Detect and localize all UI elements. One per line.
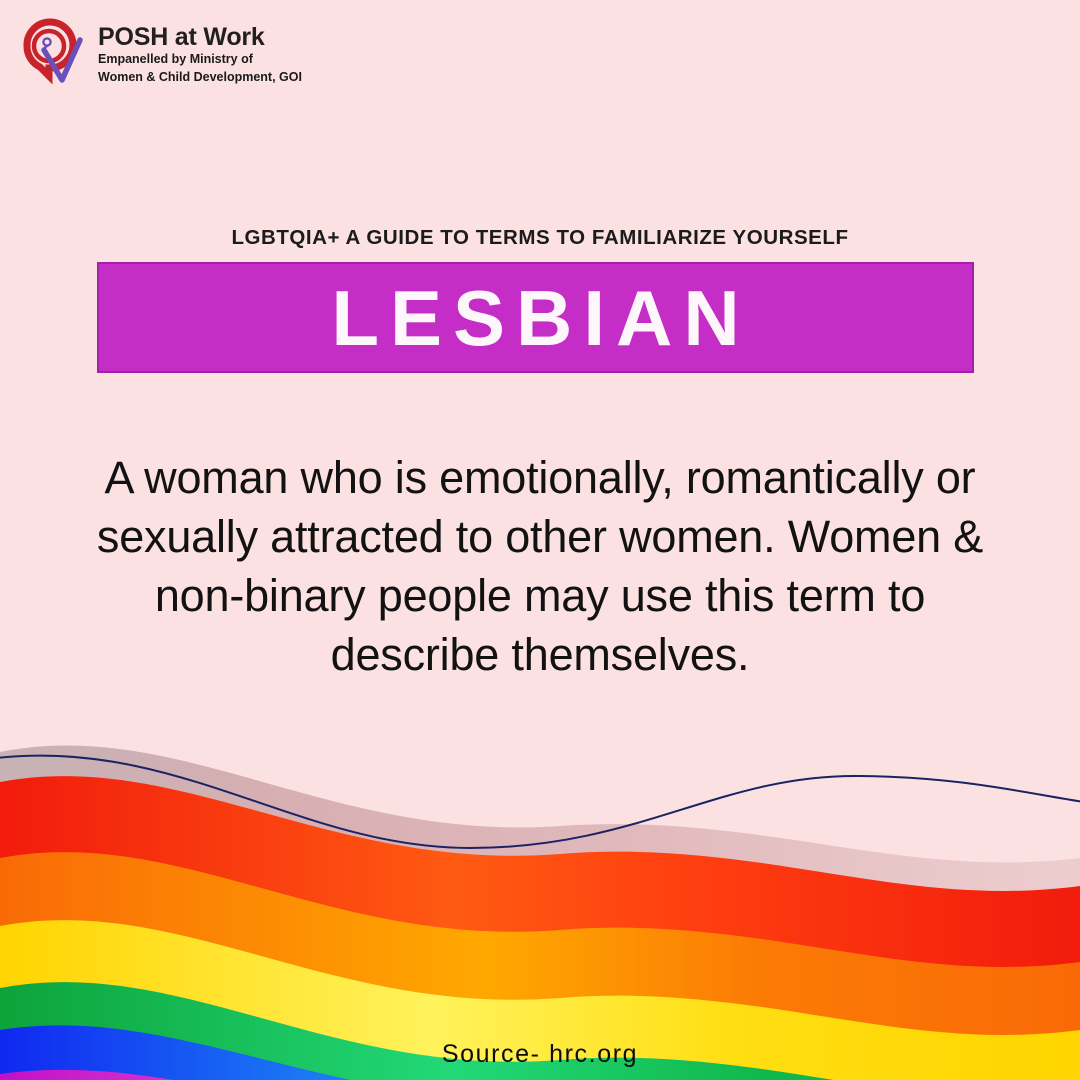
series-kicker: LGBTQIA+ A GUIDE TO TERMS TO FAMILIARIZE… xyxy=(0,226,1080,250)
poster-canvas: POSH at Work Empanelled by Ministry of W… xyxy=(0,0,1080,1080)
brand-text-block: POSH at Work Empanelled by Ministry of W… xyxy=(98,18,302,85)
brand-subtitle-line-2: Women & Child Development, GOI xyxy=(98,70,302,85)
brand-subtitle-line-1: Empanelled by Ministry of xyxy=(98,52,302,67)
posh-at-work-logo-icon xyxy=(18,18,90,90)
source-credit: Source- hrc.org xyxy=(0,1040,1080,1069)
pride-rainbow-waves-artwork xyxy=(0,730,1080,1080)
term-banner: LESBIAN xyxy=(97,262,974,373)
term-title: LESBIAN xyxy=(320,279,750,357)
brand-lockup: POSH at Work Empanelled by Ministry of W… xyxy=(18,18,302,90)
term-definition: A woman who is emotionally, romantically… xyxy=(70,448,1010,684)
brand-title: POSH at Work xyxy=(98,24,302,50)
